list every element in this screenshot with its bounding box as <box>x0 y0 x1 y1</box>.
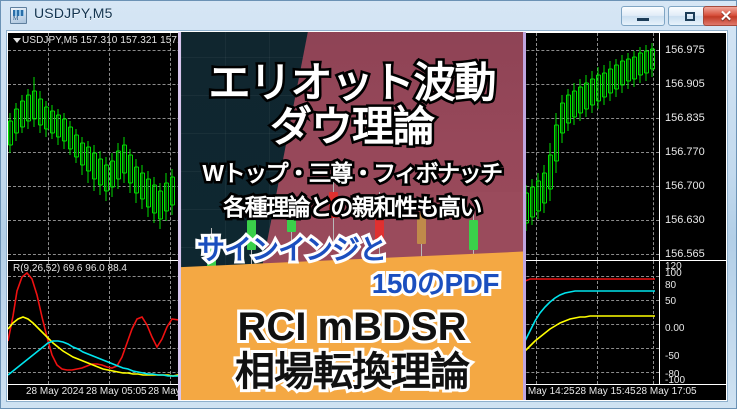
indicator-axis-label: 80 <box>665 281 676 291</box>
indicator-axis-label: 50 <box>665 297 676 307</box>
application-window: USDJPY,M5 ✕ <box>0 0 737 409</box>
chart-client-area: USDJPY,M5 157.310 157.321 157. 156.975 1… <box>6 30 728 402</box>
indicator-axis-label: 100 <box>665 269 682 279</box>
overlay-feature-1: サインインジと <box>181 236 523 264</box>
price-axis-label: 156.565 <box>665 249 705 260</box>
overlay-headline-2: ダウ理論 <box>181 106 523 148</box>
time-axis-label: 28 May 17:05 <box>636 386 697 397</box>
price-axis-label: 156.700 <box>665 181 705 192</box>
price-axis-label: 156.835 <box>665 113 705 124</box>
indicator-axis-label: 0.00 <box>665 324 684 334</box>
price-axis-label: 156.905 <box>665 79 705 90</box>
overlay-subhead-1: Wトップ・三尊・フィボナッチ <box>181 162 523 185</box>
price-chart[interactable]: USDJPY,M5 157.310 157.321 157. 156.975 1… <box>8 32 726 400</box>
minimize-button[interactable] <box>621 6 665 26</box>
time-axis-label: 28 May 05:05 <box>86 386 147 397</box>
window-title: USDJPY,M5 <box>34 5 113 21</box>
overlay-headline-1: エリオット波動 <box>181 62 523 104</box>
chart-header-label: USDJPY,M5 157.310 157.321 157. <box>22 35 180 46</box>
price-axis-label: 156.975 <box>665 45 705 56</box>
minimize-icon <box>637 18 649 21</box>
close-button[interactable]: ✕ <box>703 6 737 26</box>
time-axis-label: 28 May 15:45 <box>575 386 636 397</box>
title-bar[interactable]: USDJPY,M5 ✕ <box>1 1 737 30</box>
metatrader-chart-icon <box>10 7 27 24</box>
indicator-axis-label: -50 <box>665 352 679 362</box>
time-axis-label: 28 May 2024 <box>26 386 84 397</box>
overlay-footer-2: 相場転換理論 <box>181 352 523 392</box>
promo-overlay: エリオット波動 ダウ理論 Wトップ・三尊・フィボナッチ 各種理論との親和性も高い… <box>178 32 526 400</box>
price-axis-divider <box>659 32 660 384</box>
overlay-footer-1: RCI mBDSR <box>181 307 523 347</box>
chart-menu-caret-icon[interactable] <box>13 38 21 43</box>
close-icon: ✕ <box>720 9 733 24</box>
overlay-subhead-2: 各種理論との親和性も高い <box>181 196 523 219</box>
price-axis-label: 156.770 <box>665 147 705 158</box>
price-axis-label: 156.630 <box>665 215 705 226</box>
overlay-feature-2: 150のPDF <box>181 270 523 298</box>
maximize-icon <box>685 12 695 21</box>
